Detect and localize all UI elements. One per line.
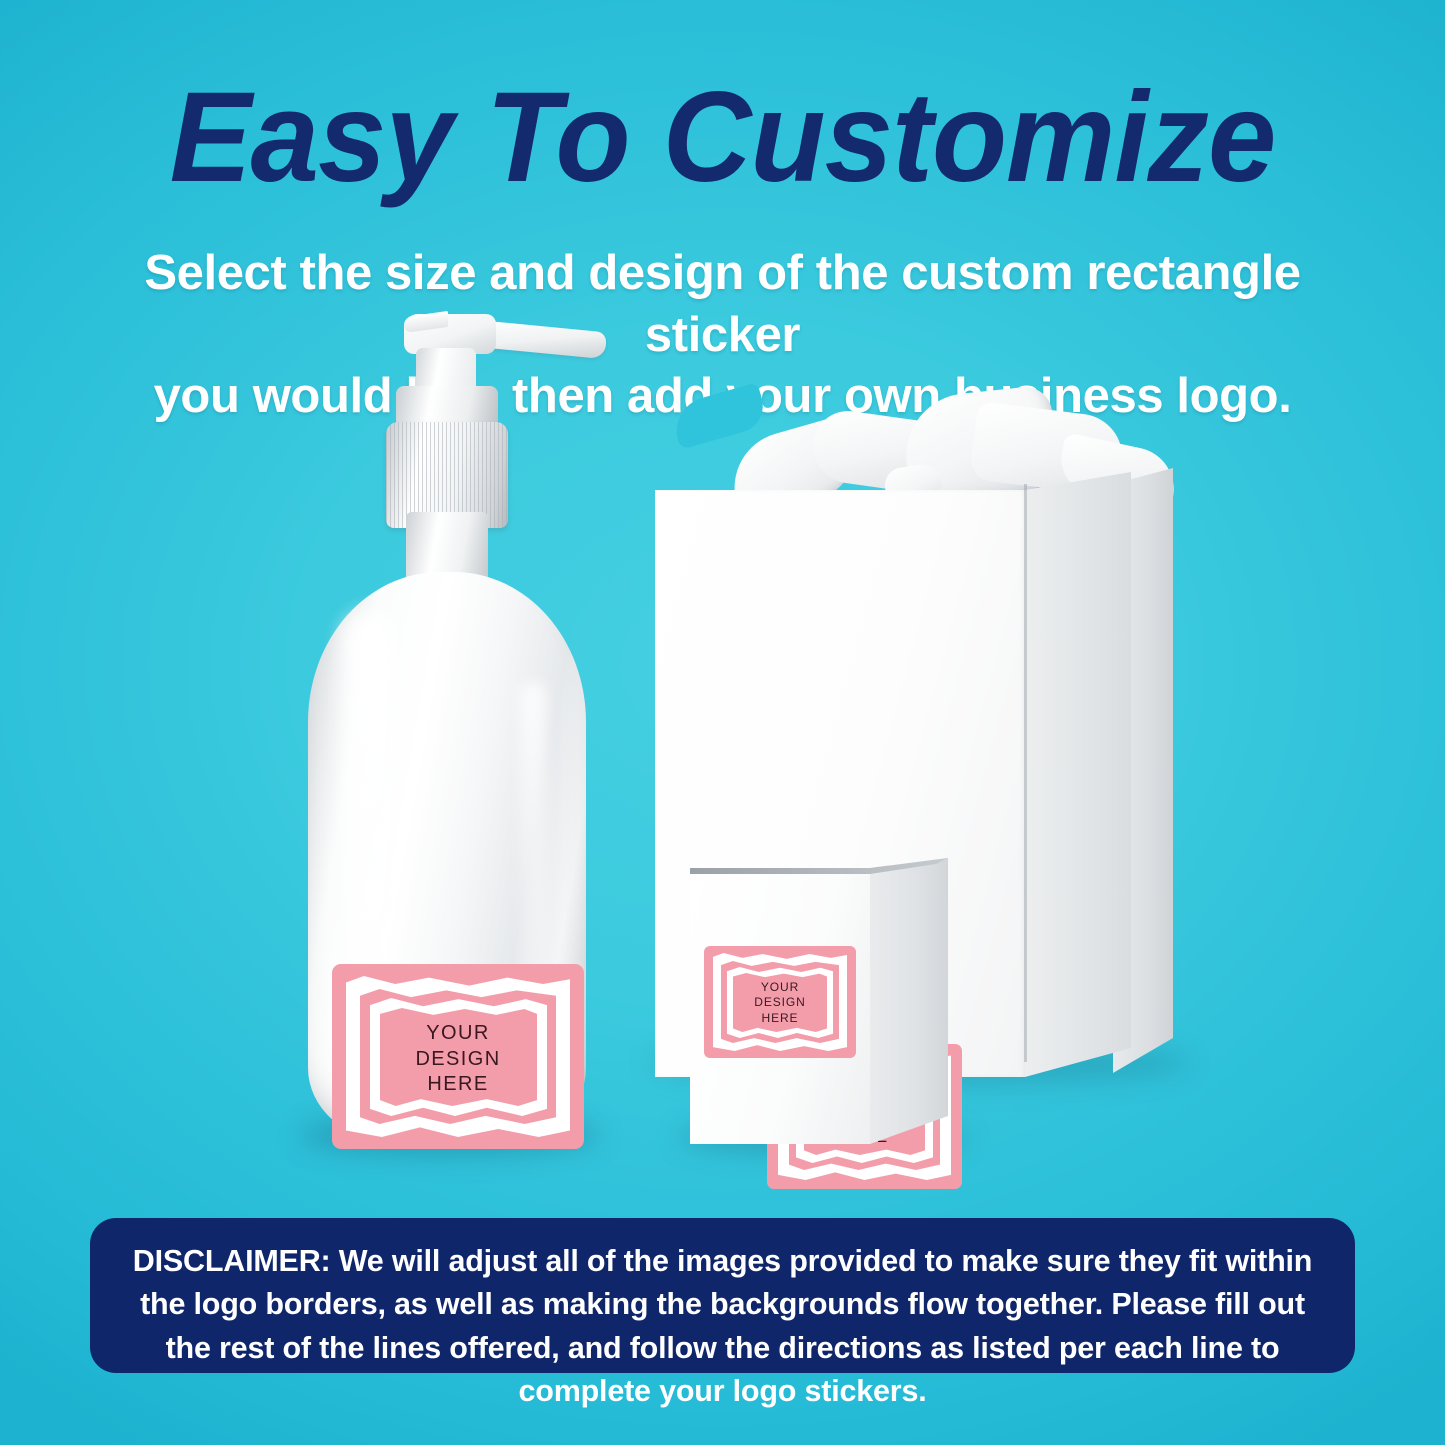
sticker-text: YOUR DESIGN HERE: [332, 1021, 584, 1098]
ribbon-loop-left-hole: [669, 382, 770, 450]
disclaimer-label: DISCLAIMER:: [133, 1244, 331, 1278]
subtitle-line-1: Select the size and design of the custom…: [70, 243, 1375, 366]
small-box-side-panel: [870, 858, 948, 1144]
promo-graphic: Easy To Customize Select the size and de…: [0, 0, 1445, 1445]
bottle-highlight-right: [520, 682, 546, 982]
gift-box-side-panel: [1025, 472, 1131, 1077]
gift-box-edge-seam: [1024, 484, 1027, 1062]
pump-bottle-mockup: YOUR DESIGN HERE: [308, 572, 586, 1142]
sticker-text: YOUR DESIGN HERE: [704, 980, 856, 1026]
sticker-text-line-1: YOUR: [332, 1021, 584, 1047]
sticker-text-line-2: DESIGN: [332, 1047, 584, 1073]
sticker-bottle: YOUR DESIGN HERE: [332, 964, 584, 1149]
sticker-small-box: YOUR DESIGN HERE: [704, 946, 856, 1058]
product-mockup-scene: YOUR DESIGN HERE YOUR DESIGN HERE: [0, 380, 1445, 1200]
sticker-text-line-3: HERE: [332, 1072, 584, 1098]
disclaimer-banner: DISCLAIMER: We will adjust all of the im…: [90, 1218, 1355, 1373]
small-box-mockup: YOUR DESIGN HERE: [690, 858, 948, 1144]
disclaimer-text: DISCLAIMER: We will adjust all of the im…: [130, 1240, 1315, 1413]
sticker-text-line-3: HERE: [704, 1011, 856, 1026]
sticker-text-line-1: YOUR: [704, 980, 856, 995]
page-title: Easy To Customize: [29, 74, 1416, 202]
sticker-text-line-2: DESIGN: [704, 995, 856, 1010]
